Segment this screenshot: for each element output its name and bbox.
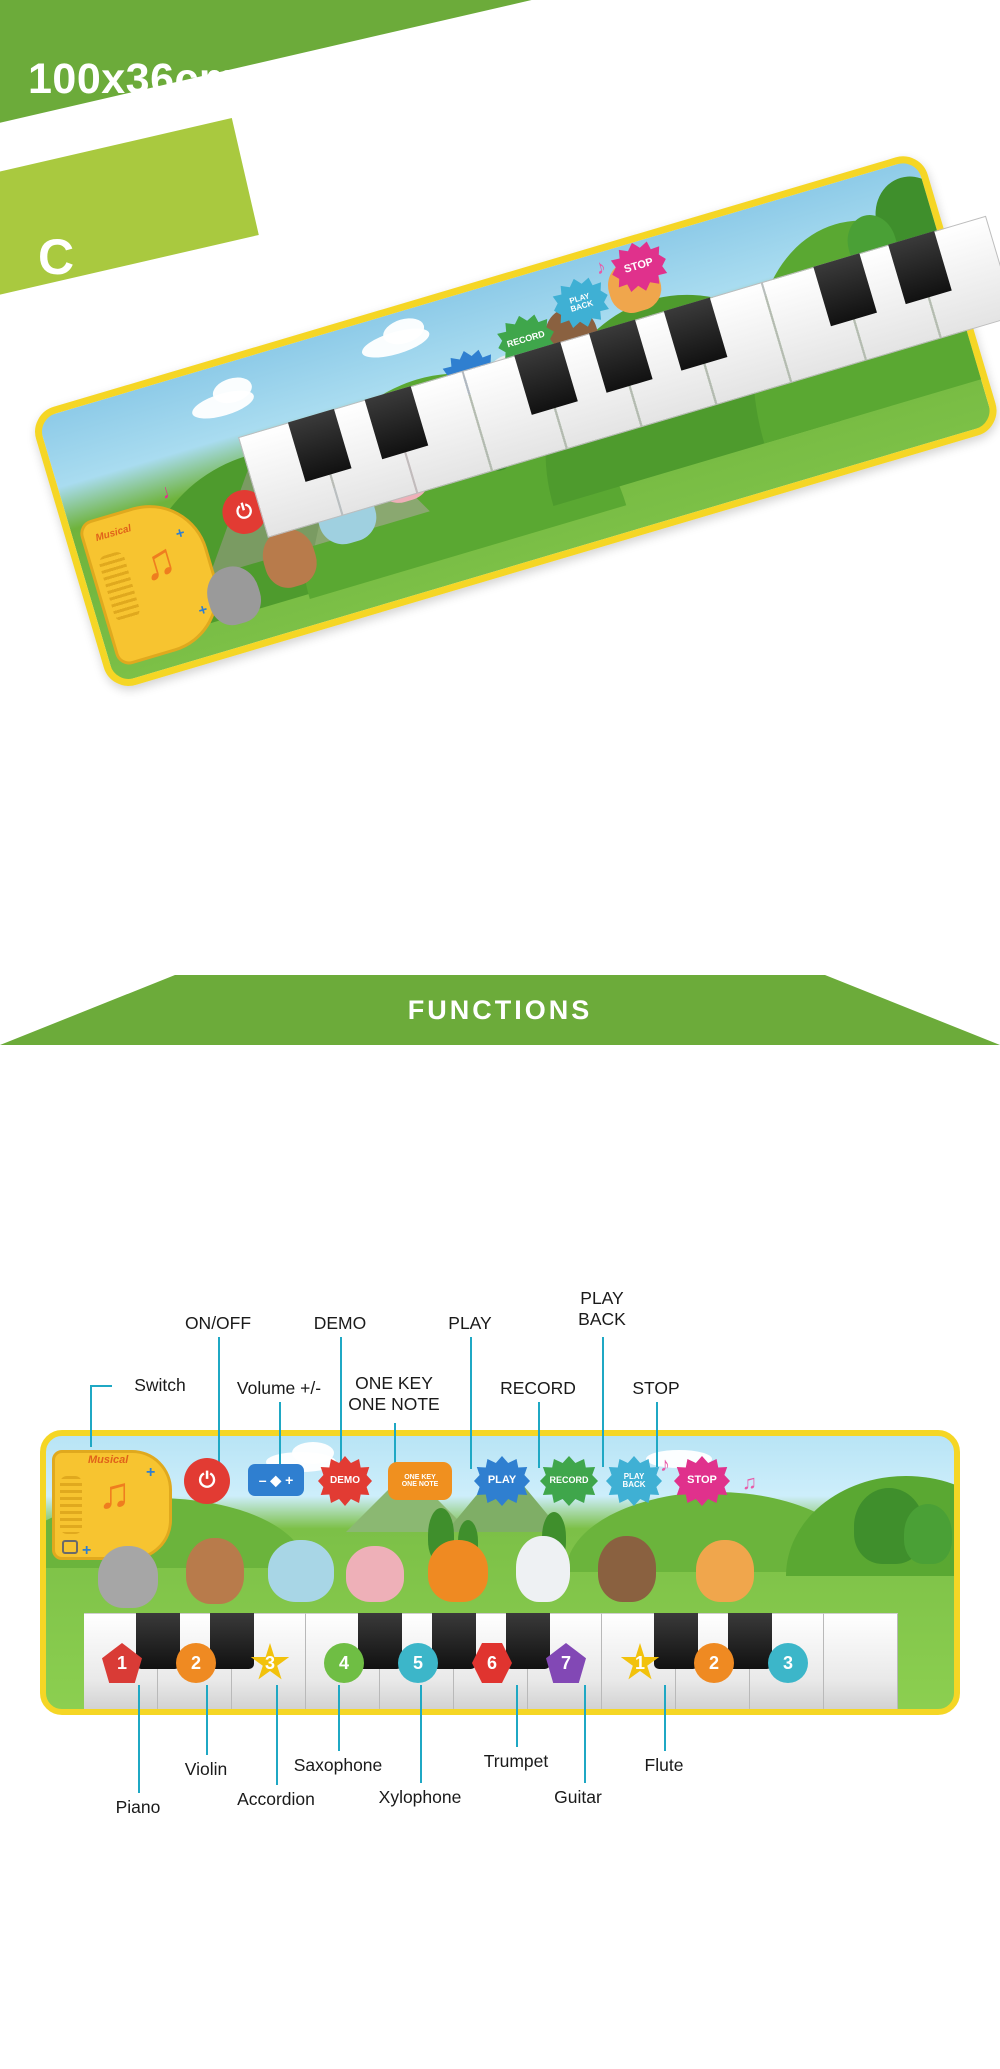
- music-note-icon: ♫: [742, 1472, 757, 1495]
- leader-line-switch-v: [90, 1385, 92, 1447]
- fox-animal: [428, 1540, 488, 1602]
- label-play: PLAY: [420, 1313, 520, 1333]
- size-label: 100x36cm: [28, 55, 238, 104]
- black-key[interactable]: [506, 1613, 550, 1669]
- black-key[interactable]: [654, 1613, 698, 1669]
- elephant-animal: [268, 1540, 334, 1602]
- functions-title: FUNCTIONS: [0, 975, 1000, 1045]
- hero-section: ♫ Musical + + ⏻ – + DEMO ONE KEYONE NOTE…: [0, 0, 1000, 975]
- leader-line-play: [470, 1337, 472, 1469]
- label-play-back: PLAYBACK: [552, 1288, 652, 1330]
- leader-line-xylophone: [420, 1685, 422, 1783]
- white-key[interactable]: [824, 1613, 898, 1709]
- leader-line-accordion: [276, 1685, 278, 1785]
- tree-icon: [904, 1504, 952, 1564]
- music-note-icon: ♪: [660, 1454, 670, 1477]
- plus-icon-2: +: [82, 1542, 91, 1560]
- diagram-section: Switch ON/OFF Volume +/- DEMO ONE KEYONE…: [0, 1045, 1000, 2069]
- plus-icon: +: [146, 1464, 155, 1482]
- leader-line-demo: [340, 1337, 342, 1467]
- leader-line-trumpet: [516, 1685, 518, 1747]
- label-flute: Flute: [614, 1755, 714, 1775]
- black-key[interactable]: [210, 1613, 254, 1669]
- key-number-2[interactable]: 2: [176, 1643, 216, 1683]
- label-saxophone: Saxophone: [280, 1755, 396, 1775]
- leader-line-flute: [664, 1685, 666, 1751]
- label-switch: Switch: [110, 1375, 210, 1395]
- leader-line-play-back: [602, 1337, 604, 1467]
- deer-animal: [186, 1538, 244, 1604]
- switch-toggle[interactable]: [62, 1540, 78, 1554]
- leader-line-onoff: [218, 1337, 220, 1467]
- music-note-icon: ♪: [593, 256, 609, 281]
- black-key[interactable]: [728, 1613, 772, 1669]
- leader-line-saxophone: [338, 1685, 340, 1751]
- label-record: RECORD: [488, 1378, 588, 1398]
- label-stop: STOP: [606, 1378, 706, 1398]
- black-key[interactable]: [432, 1613, 476, 1669]
- note-logo-icon: ♫: [98, 1472, 131, 1516]
- black-key[interactable]: [358, 1613, 402, 1669]
- raccoon-animal: [98, 1546, 158, 1608]
- label-volume: Volume +/-: [214, 1378, 344, 1398]
- label-demo: DEMO: [290, 1313, 390, 1333]
- leader-line-volume: [279, 1402, 281, 1467]
- leader-line-switch: [90, 1385, 112, 1387]
- keyboard[interactable]: 1 2 3 4 5 6 7 1 2 3: [84, 1613, 922, 1709]
- label-xylophone: Xylophone: [362, 1787, 478, 1807]
- key-number-5[interactable]: 5: [398, 1643, 438, 1683]
- one-key-one-note-button[interactable]: ONE KEYONE NOTE: [388, 1462, 452, 1500]
- label-onoff: ON/OFF: [168, 1313, 268, 1333]
- brand-text: Musical: [88, 1454, 128, 1466]
- leader-line-piano: [138, 1685, 140, 1793]
- variant-label: C: [38, 228, 74, 286]
- cloud-icon: [292, 1442, 334, 1464]
- hero-mat-image: ♫ Musical + + ⏻ – + DEMO ONE KEYONE NOTE…: [0, 0, 1000, 846]
- rabbit-animal: [516, 1536, 570, 1602]
- leader-line-violin: [206, 1685, 208, 1755]
- speaker-grille: [60, 1476, 82, 1534]
- leader-line-record: [538, 1402, 540, 1468]
- bear-animal: [598, 1536, 656, 1602]
- leader-line-stop: [656, 1402, 658, 1467]
- key-number-9[interactable]: 2: [694, 1643, 734, 1683]
- leader-line-guitar: [584, 1685, 586, 1783]
- key-number-4[interactable]: 4: [324, 1643, 364, 1683]
- key-number-10[interactable]: 3: [768, 1643, 808, 1683]
- black-key[interactable]: [136, 1613, 180, 1669]
- hero-white-keys: [190, 186, 1000, 654]
- power-button[interactable]: ⏻: [184, 1458, 230, 1504]
- functions-banner: FUNCTIONS: [0, 975, 1000, 1045]
- label-piano: Piano: [88, 1797, 188, 1817]
- pig-animal: [346, 1546, 404, 1602]
- hero-keyboard[interactable]: [190, 186, 1000, 654]
- label-trumpet: Trumpet: [458, 1751, 574, 1771]
- volume-button[interactable]: – ◆ +: [248, 1464, 304, 1496]
- label-one-key-one-note: ONE KEYONE NOTE: [334, 1373, 454, 1415]
- label-violin: Violin: [156, 1759, 256, 1779]
- flat-mat-image: Musical ♫ + + ⏻ – ◆ + DEMO ONE KEYONE NO…: [40, 1430, 960, 1715]
- label-guitar: Guitar: [528, 1787, 628, 1807]
- cat-animal: [696, 1540, 754, 1602]
- label-accordion: Accordion: [218, 1789, 334, 1809]
